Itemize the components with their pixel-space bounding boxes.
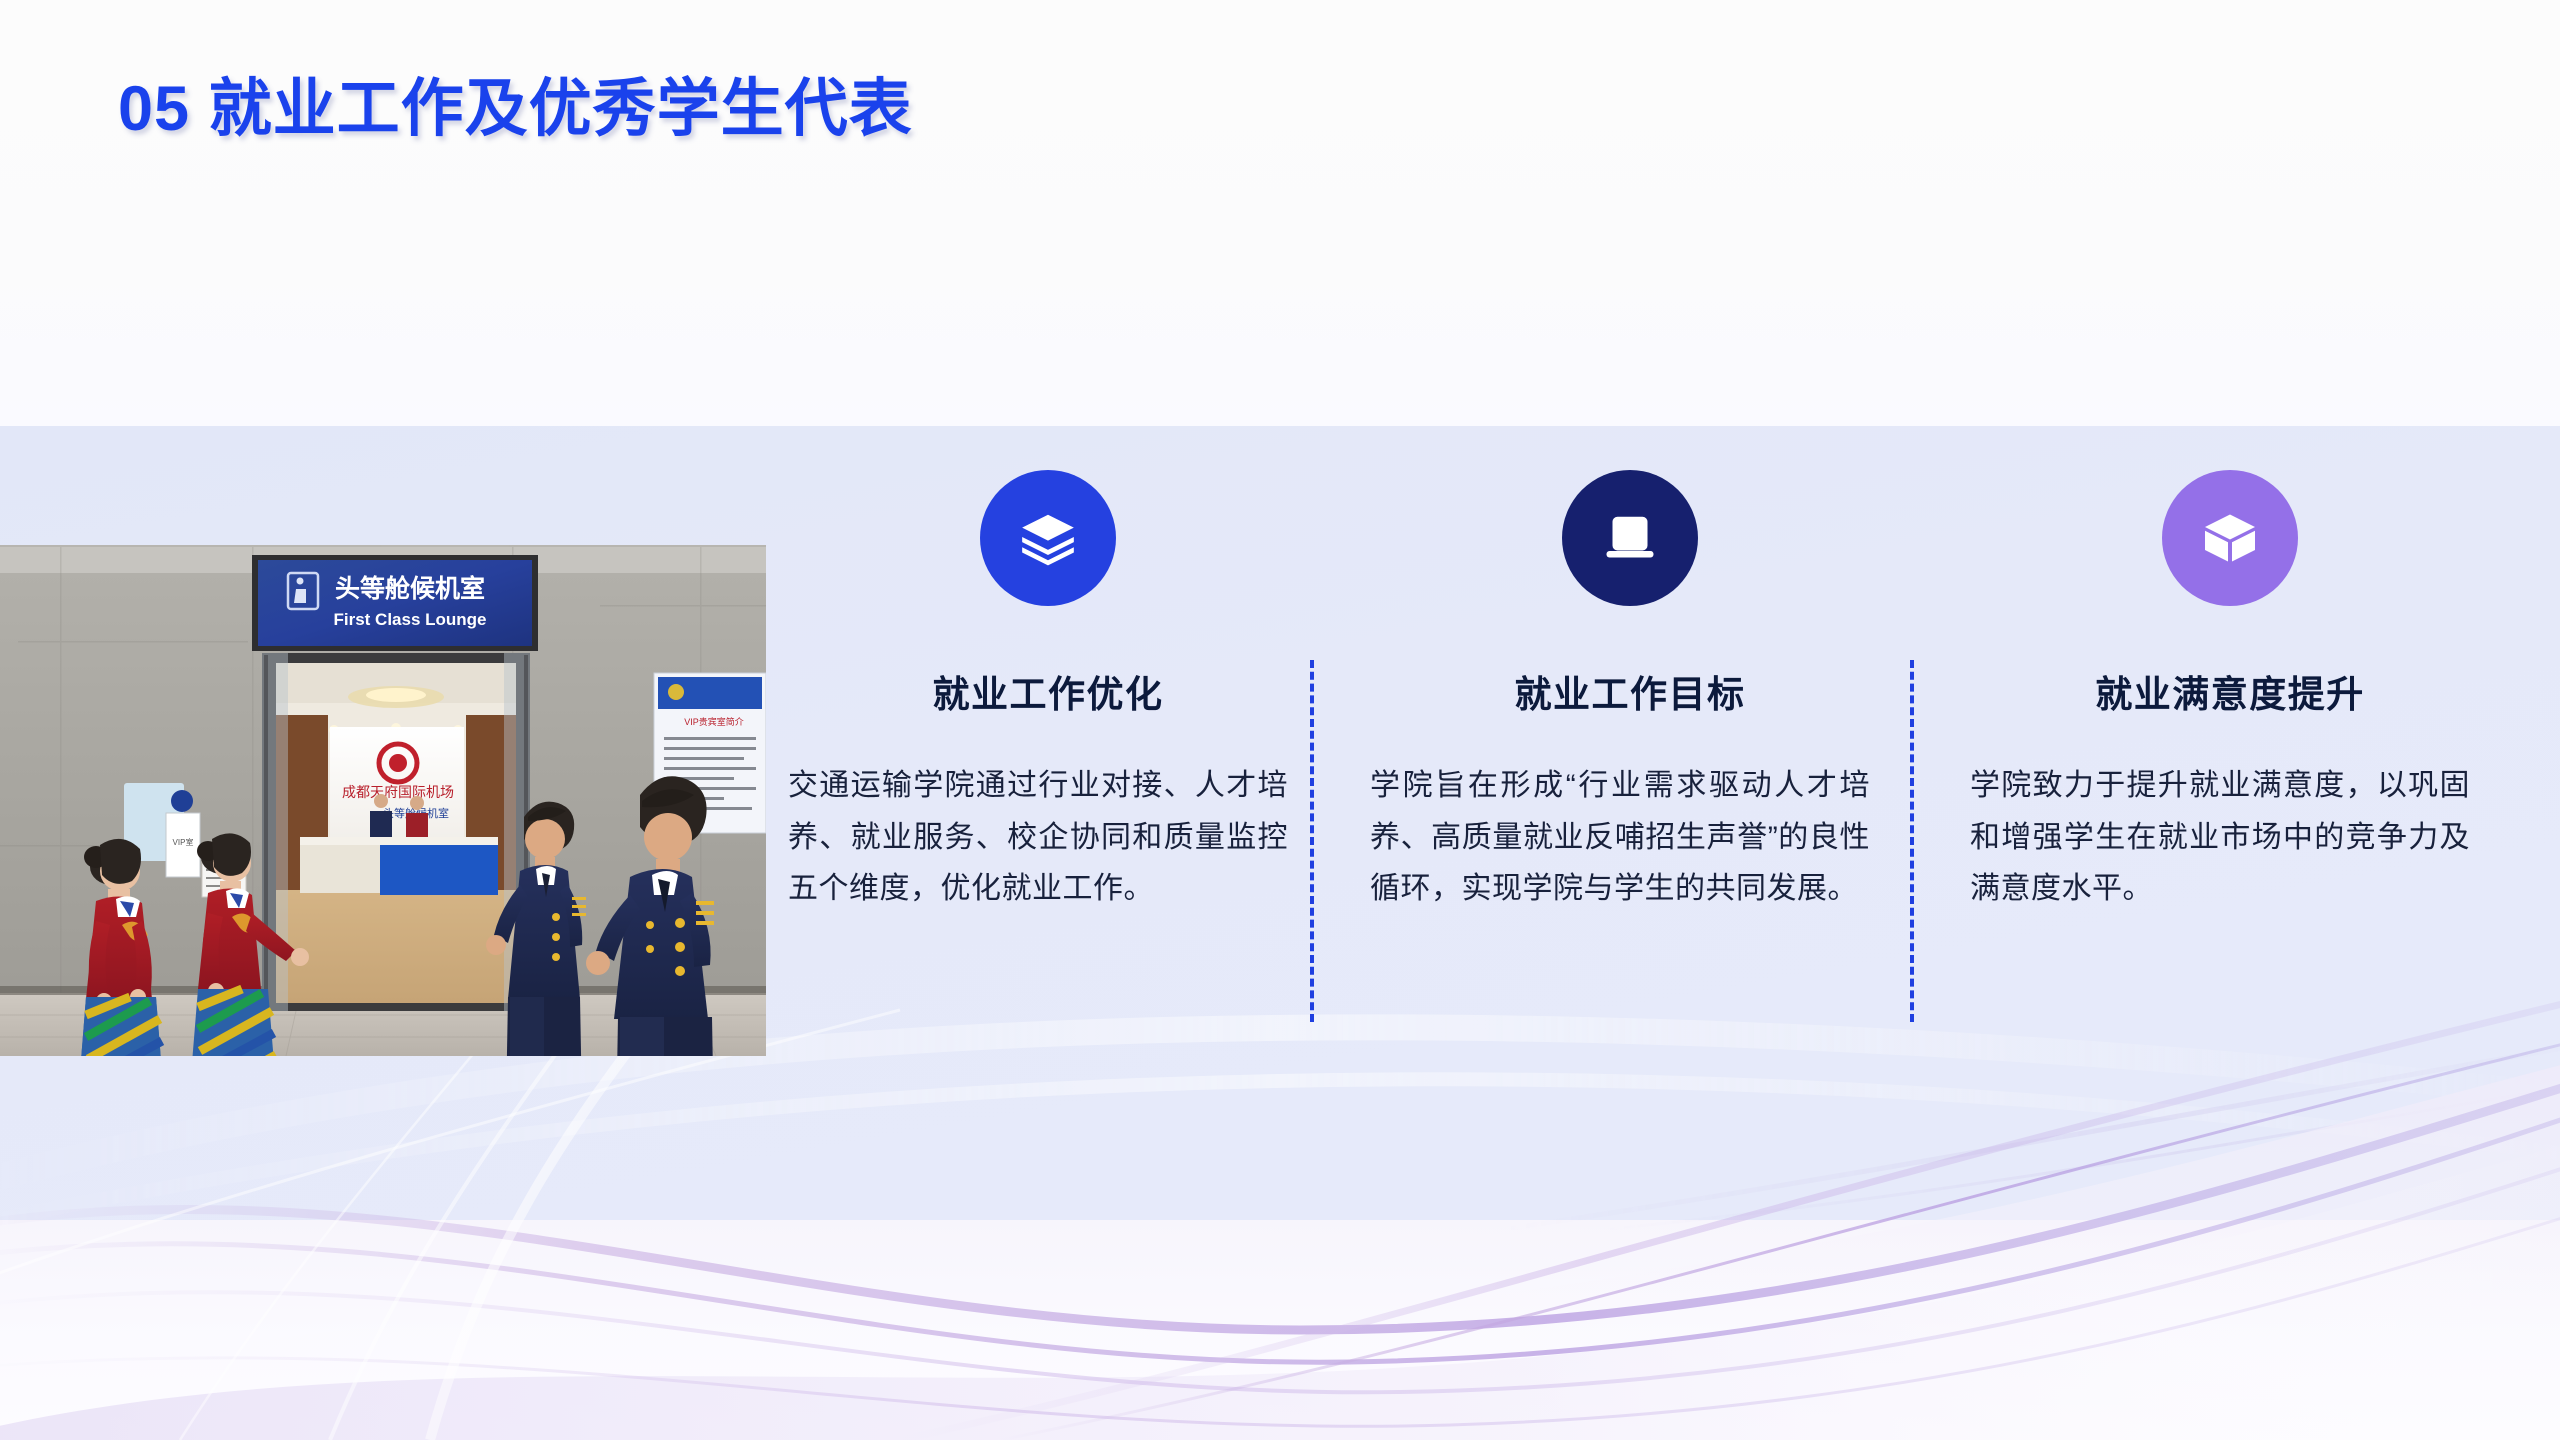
- feature-heading-1: 就业工作优化: [788, 664, 1308, 718]
- feature-columns: 就业工作优化 交通运输学院通过行业对接、人才培养、就业服务、校企协同和质量监控五…: [770, 470, 2560, 1110]
- slide-canvas: 05 就业工作及优秀学生代表: [0, 0, 2560, 1440]
- layers-icon-glyph: [1017, 507, 1079, 569]
- page-title: 05 就业工作及优秀学生代表: [118, 70, 913, 149]
- svg-text:成都天府国际机场: 成都天府国际机场: [342, 785, 454, 801]
- feature-column-2: 就业工作目标 学院旨在形成“行业需求驱动人才培养、高质量就业反哺招生声誉”的良性…: [1370, 470, 1890, 915]
- bottom-background-band: [0, 1220, 2560, 1440]
- laptop-icon: [1562, 470, 1698, 606]
- top-background-band: [0, 0, 2560, 426]
- feature-column-3: 就业满意度提升 学院致力于提升就业满意度，以巩固和增强学生在就业市场中的竞争力及…: [1970, 470, 2490, 915]
- feature-body-1: 交通运输学院通过行业对接、人才培养、就业服务、校企协同和质量监控五个维度，优化就…: [788, 760, 1288, 915]
- feature-body-3: 学院致力于提升就业满意度，以巩固和增强学生在就业市场中的竞争力及满意度水平。: [1970, 760, 2470, 915]
- first-class-lounge-photo: 成都天府国际机场 头等舱候机室 头等舱候机室: [0, 545, 766, 1056]
- svg-text:First Class Lounge: First Class Lounge: [333, 610, 486, 629]
- cube-icon: [2162, 470, 2298, 606]
- feature-heading-2: 就业工作目标: [1370, 664, 1890, 718]
- svg-text:头等舱候机室: 头等舱候机室: [335, 574, 485, 603]
- laptop-icon-glyph: [1600, 508, 1660, 568]
- svg-text:VIP贵宾室简介: VIP贵宾室简介: [684, 716, 744, 727]
- cube-icon-glyph: [2200, 508, 2260, 568]
- layers-icon: [980, 470, 1116, 606]
- svg-text:VIP室: VIP室: [173, 837, 194, 847]
- feature-body-2: 学院旨在形成“行业需求驱动人才培养、高质量就业反哺招生声誉”的良性循环，实现学院…: [1370, 760, 1870, 915]
- photo-illustration: 成都天府国际机场 头等舱候机室 头等舱候机室: [0, 545, 766, 1056]
- feature-heading-3: 就业满意度提升: [1970, 664, 2490, 718]
- feature-column-1: 就业工作优化 交通运输学院通过行业对接、人才培养、就业服务、校企协同和质量监控五…: [788, 470, 1308, 915]
